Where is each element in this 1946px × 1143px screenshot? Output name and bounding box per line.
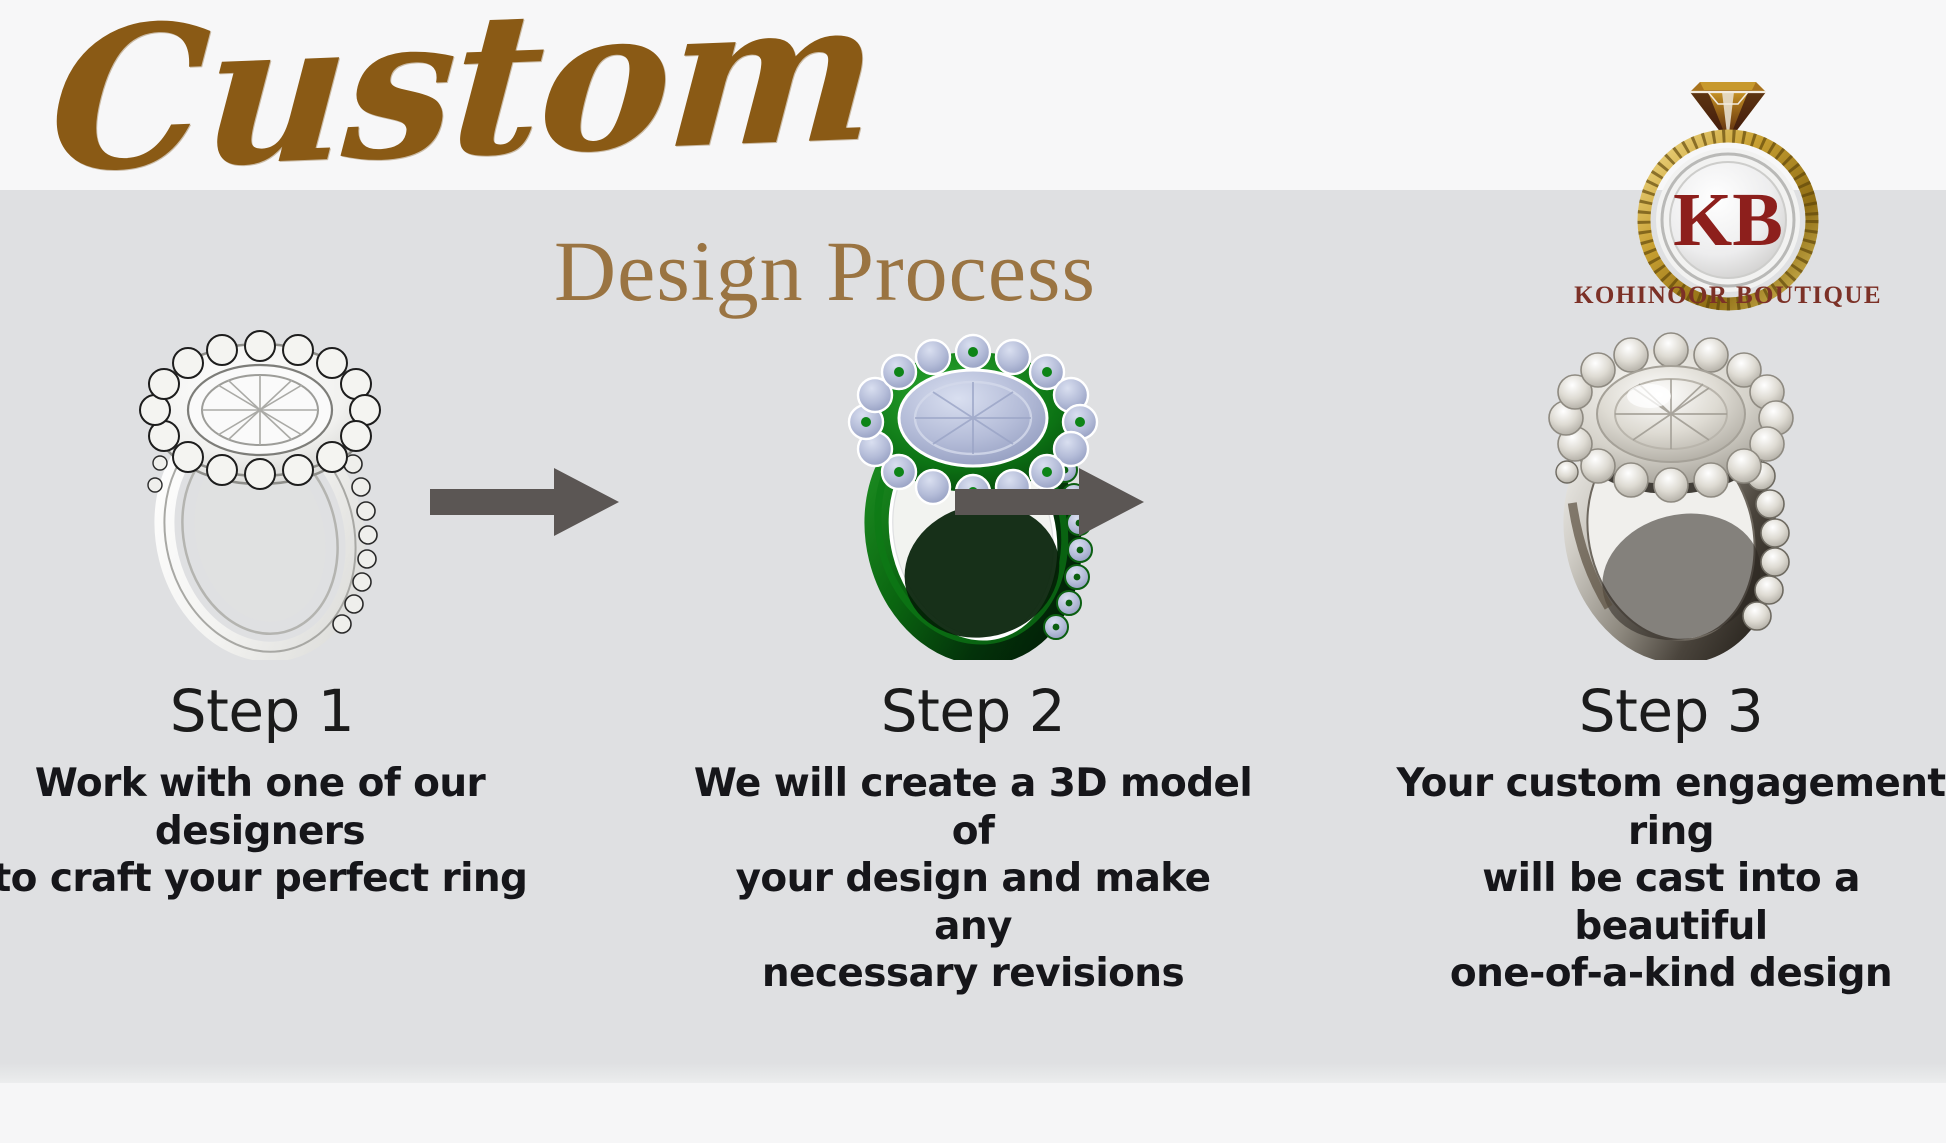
- process-arrow-step2-to-step3: [955, 462, 1145, 542]
- step-description: Your custom engagement ring will be cast…: [1391, 760, 1946, 998]
- step-title: Step 3: [1391, 682, 1946, 740]
- step-card-1: Step 1 Work with one of our designers to…: [0, 330, 540, 903]
- step-title: Step 2: [693, 682, 1253, 740]
- ring-finished-photograph: [1391, 330, 1946, 660]
- step-card-3: Step 3 Your custom engagement ring will …: [1391, 330, 1946, 998]
- page-title-script: Custom: [45, 0, 880, 200]
- process-arrow-step1-to-step2: [430, 462, 620, 542]
- step-title: Step 1: [0, 682, 542, 740]
- brand-name: KOHINOOR BOUTIQUE: [1566, 282, 1890, 310]
- infographic-canvas: Custom Design Process: [0, 0, 1946, 1143]
- step-description: Work with one of our designers to craft …: [0, 760, 540, 903]
- brand-logo: KB KOHINOOR BOUTIQUE: [1588, 70, 1868, 320]
- step-card-2: Step 2 We will create a 3D model of your…: [693, 330, 1253, 998]
- background-band-bottom: [0, 1083, 1946, 1143]
- step-description: We will create a 3D model of your design…: [693, 760, 1253, 998]
- page-subtitle: Design Process: [0, 228, 1650, 314]
- logo-monogram-text: KB: [1673, 178, 1783, 262]
